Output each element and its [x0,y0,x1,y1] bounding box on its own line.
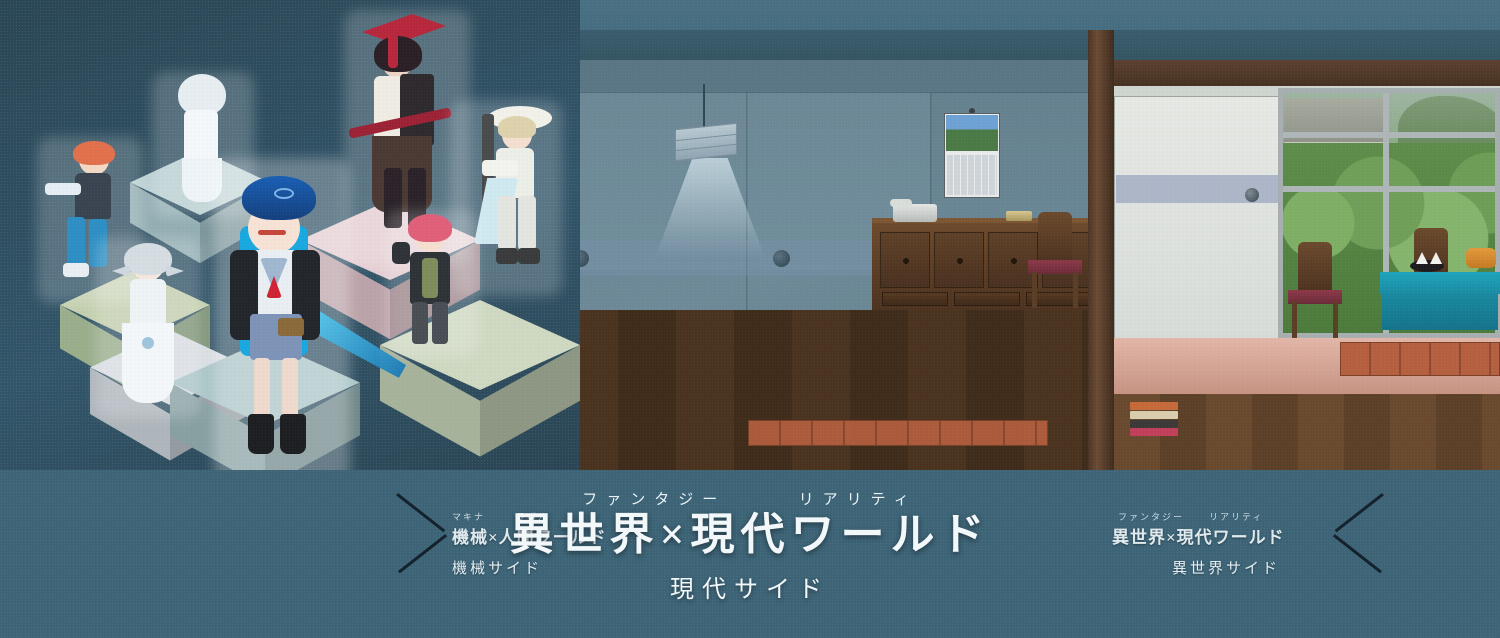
character-silver-android [104,245,194,410]
character-blue-beret-girl [222,166,342,476]
calendar-photo [946,115,998,151]
cabinet-knob-icon [903,258,909,264]
character-body [184,110,218,162]
character-leg [498,196,516,250]
cabinet-knob-icon [1011,258,1017,264]
character-hair [73,141,115,165]
chair-legs [1032,272,1078,308]
character-boot [496,248,518,264]
dining-table [1380,272,1500,294]
character-leg [518,196,536,250]
book [1130,420,1178,428]
book [1130,411,1178,419]
character-boot [518,248,540,264]
ruby-right: リアリティ [799,491,918,508]
door-handle-icon [773,250,790,267]
chair-back [1298,242,1332,292]
chevron-right-icon [1262,493,1322,571]
character-leg [254,358,270,420]
character-hair-streak [388,34,398,68]
cabinet-drawer [882,292,948,306]
character-pink-boy [394,218,470,348]
scene-artwork [0,0,1500,500]
character-leg [67,217,85,267]
sliding-shoji-door [1114,96,1280,346]
character-leg [432,302,448,344]
character-boot [248,414,274,454]
book [1130,428,1178,436]
cabinet-drawer [954,292,1020,306]
book-stack [1130,402,1178,436]
character-core-gem [142,337,154,349]
fantasy-side-label: ファンタジー リアリティ 異世界×現代ワールド 異世界サイド [1112,510,1280,578]
title-banner: マキナ ラボル 機械×人間ワールド 機械サイド ファンタジー リアリティ 異世界… [0,470,1500,638]
character-glove [278,318,304,336]
character-hair [408,214,452,242]
character-leg [282,358,298,420]
character-leg [412,302,428,344]
character-arm [482,160,518,176]
cabinet-knob-icon [957,258,963,264]
chair-back [1038,212,1072,262]
fantasy-side-title: 異世界×現代ワールド [1112,523,1280,548]
character-mouth [258,230,286,235]
character-shirt [422,258,438,298]
fantasy-side-ruby: ファンタジー リアリティ [1112,510,1280,523]
fantasy-side-subtitle: 異世界サイド [1112,557,1280,578]
door-handle-icon [1245,188,1259,202]
character-hair [374,36,422,72]
ruby-right: リアリティ [1209,512,1263,522]
character-dress [122,323,174,403]
character-body [130,279,166,327]
wooden-chair [1028,212,1082,308]
floor-rug [748,420,1048,446]
wooden-pillar [1088,30,1114,500]
character-hair [124,243,172,275]
book [1130,402,1178,410]
hanging-lamp [675,123,737,162]
ruby-left: ファンタジー [1118,512,1184,522]
character-arm [45,183,81,195]
calendar-grid [947,155,997,195]
character-boot [63,263,89,277]
promotional-banner: マキナ ラボル 機械×人間ワールド 機械サイド ファンタジー リアリティ 異世界… [0,0,1500,638]
fried-food-plate [1466,248,1496,268]
lamp-cord [703,84,705,130]
character-boot [280,414,306,454]
floor-rug [1340,342,1500,376]
character-body [75,173,111,219]
character-hair [498,116,536,138]
table-cloth [1382,290,1498,330]
chair-legs [1292,302,1338,338]
character-arm [392,242,410,264]
ruby-left: ファンタジー [582,491,726,508]
phone-handset [890,199,912,207]
beret-emblem-icon [274,188,294,199]
wooden-chair [1288,242,1342,338]
